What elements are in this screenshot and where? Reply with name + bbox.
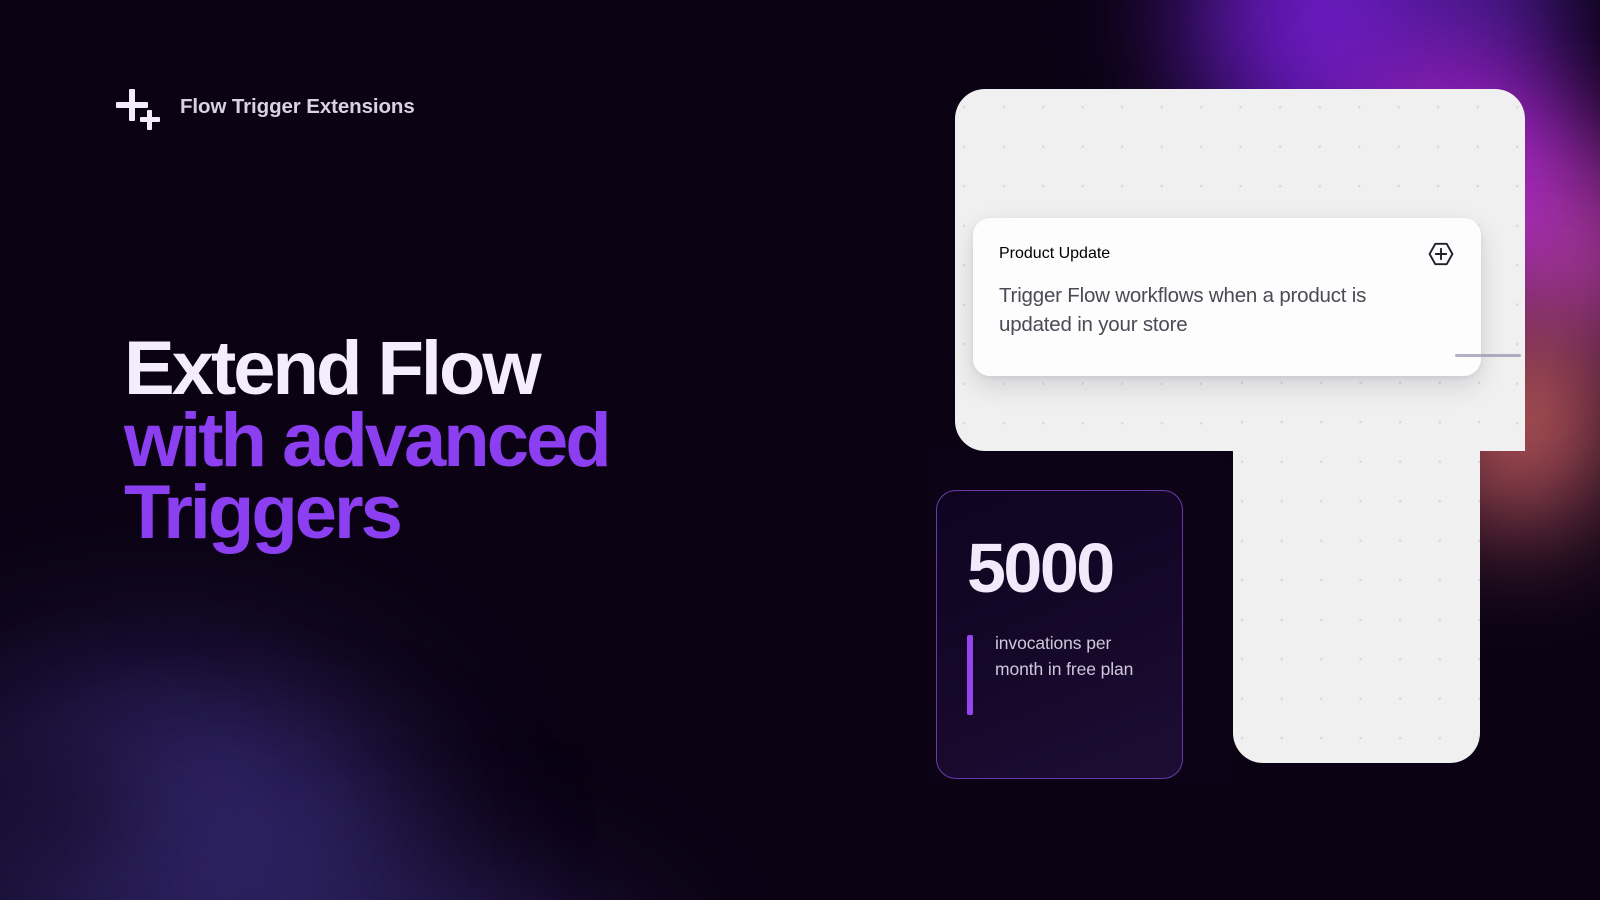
headline-line-1: Extend Flow (124, 333, 609, 405)
product-update-card[interactable]: Product Update Trigger Flow workflows wh… (973, 218, 1481, 376)
stat-card-description-row: invocations per month in free plan (967, 631, 1182, 715)
product-update-card-title: Product Update (999, 245, 1110, 263)
stat-card: 5000 invocations per month in free plan (936, 490, 1183, 779)
product-update-card-description: Trigger Flow workflows when a product is… (999, 281, 1399, 339)
stat-accent-bar (967, 635, 973, 715)
hero-text-column: Flow Trigger Extensions Extend Flow with… (0, 0, 900, 900)
stat-card-description: invocations per month in free plan (995, 631, 1145, 683)
hero-headline: Extend Flow with advanced Triggers (124, 333, 609, 550)
headline-line-2: with advanced (124, 405, 609, 477)
headline-line-3: Triggers (124, 477, 609, 549)
brand-name: Flow Trigger Extensions (180, 95, 415, 119)
product-update-card-header: Product Update (999, 240, 1455, 268)
double-plus-icon (116, 84, 162, 130)
brand-lockup[interactable]: Flow Trigger Extensions (116, 84, 415, 130)
hexagon-plus-icon[interactable] (1427, 240, 1455, 268)
dotted-panel-lower (1233, 325, 1480, 763)
stat-card-number: 5000 (967, 533, 1182, 603)
connector-line (1455, 354, 1521, 357)
